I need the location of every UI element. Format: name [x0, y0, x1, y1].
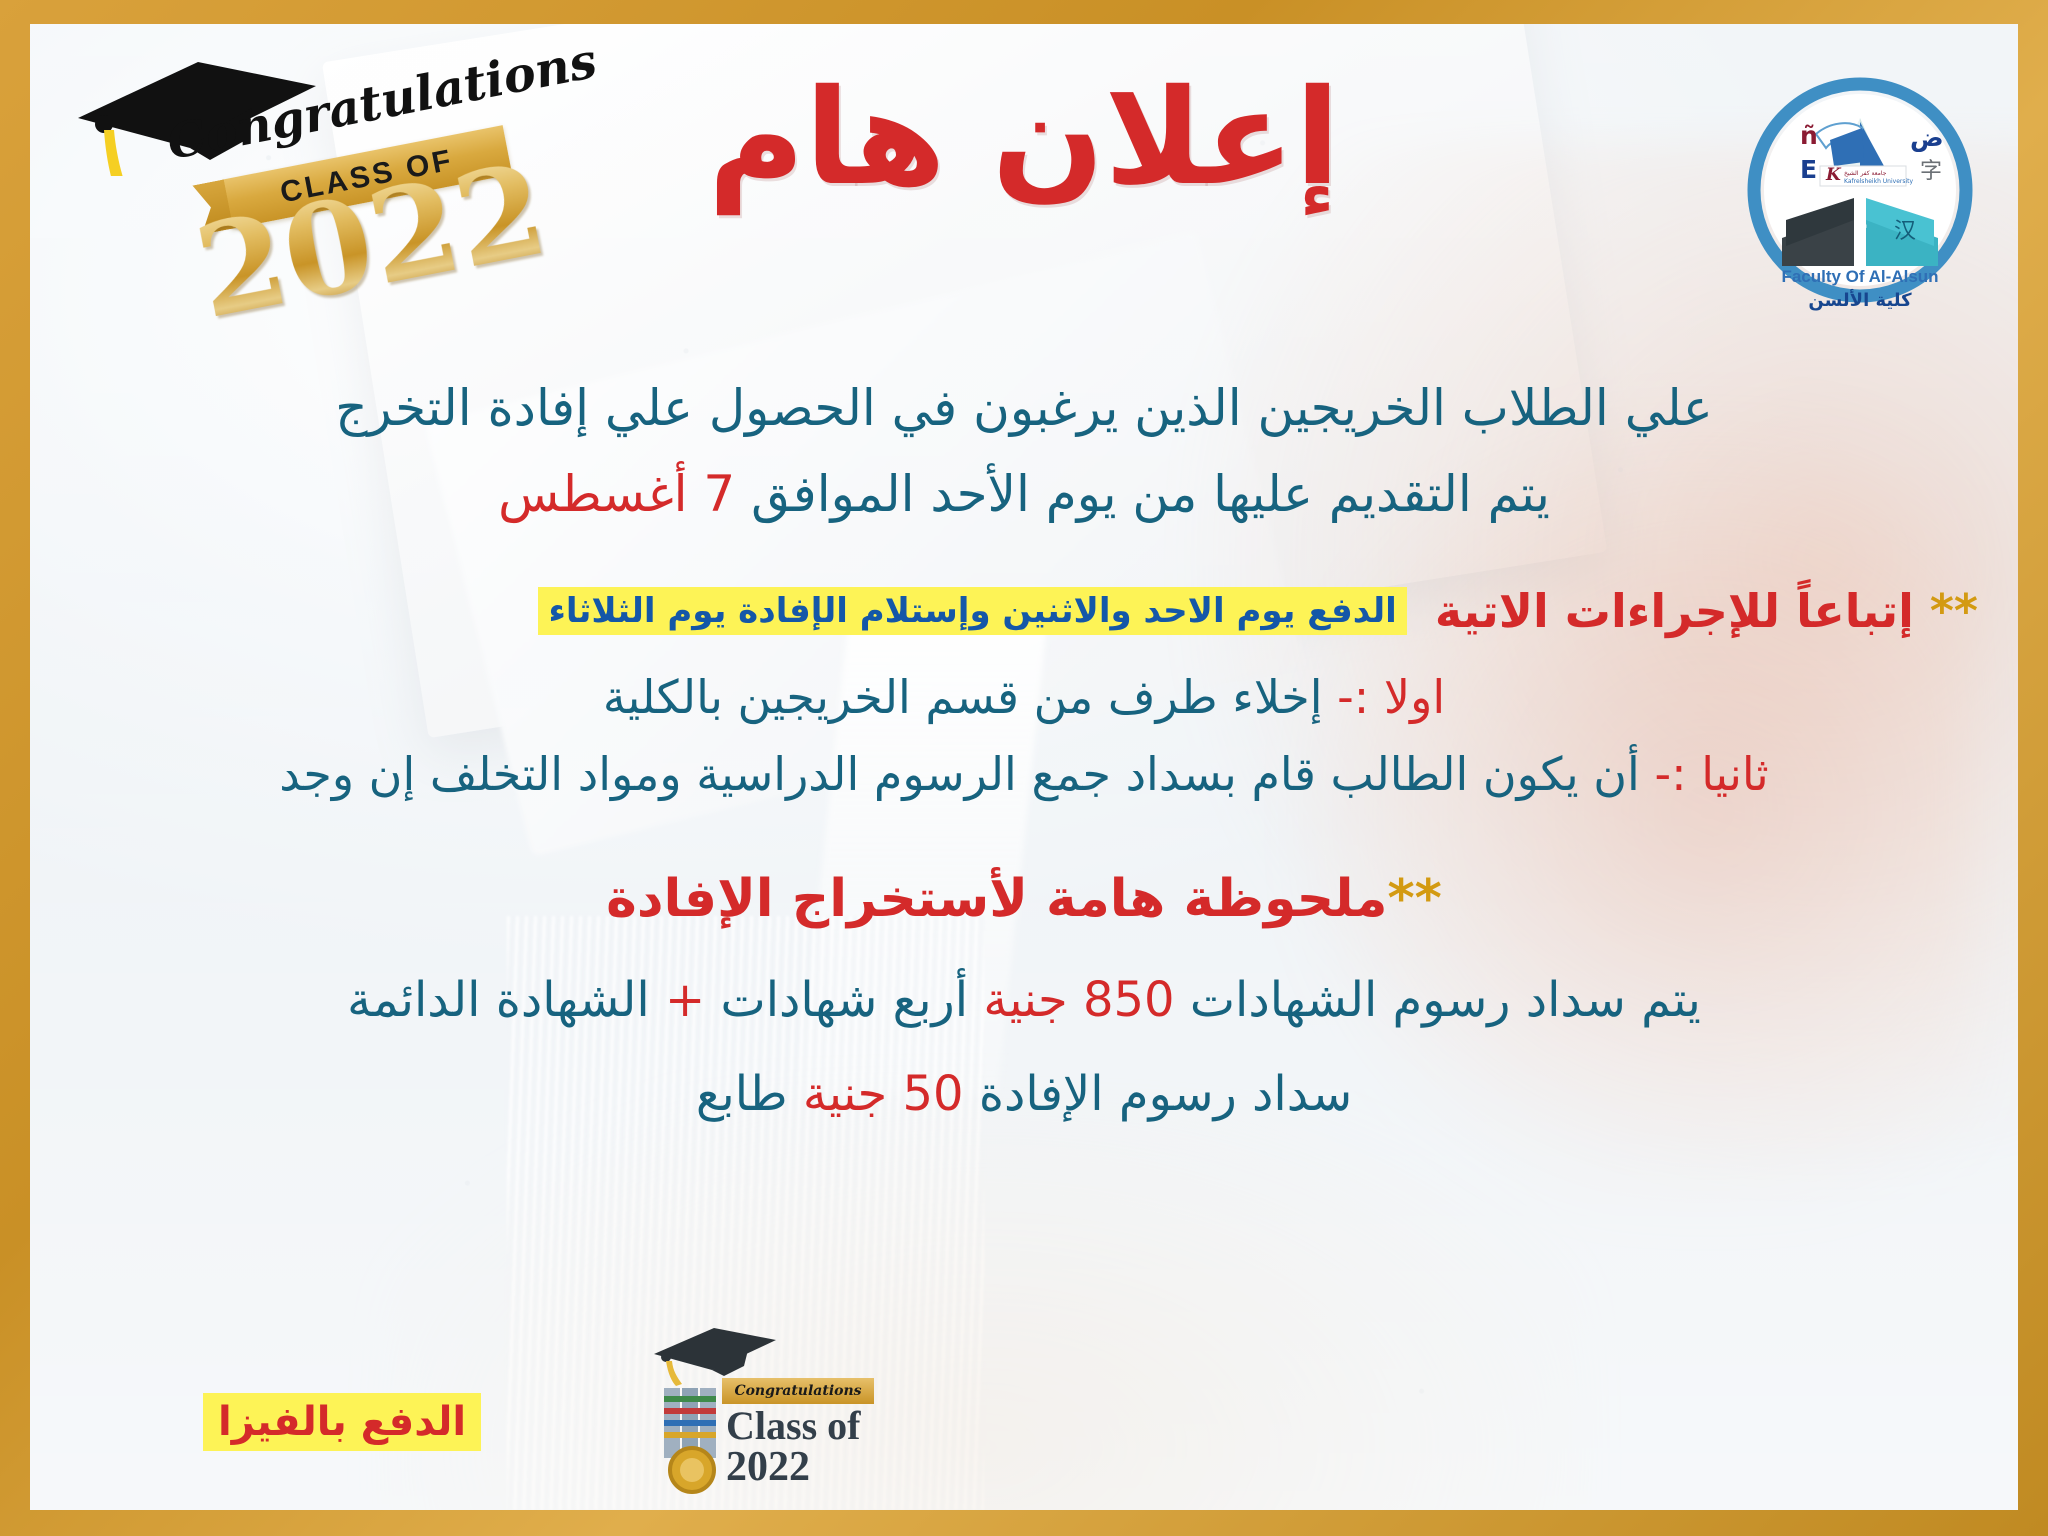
- note-asterisks-marker: **: [1387, 869, 1441, 929]
- fee-line-certificates: يتم سداد رسوم الشهادات 850 جنية أربع شها…: [70, 964, 1978, 1036]
- fee-line-1-plus: +: [665, 972, 705, 1028]
- page-title: إعلان هام: [30, 72, 2018, 204]
- important-note-text: ملحوظة هامة لأستخراج الإفادة: [606, 869, 1387, 929]
- step-one-label: اولا :-: [1337, 670, 1445, 724]
- svg-text:جامعة كفر الشيخ: جامعة كفر الشيخ: [1844, 170, 1887, 177]
- procedures-heading-text: إتباعاً للإجراءات الاتية: [1435, 584, 1914, 638]
- svg-text:汉: 汉: [1894, 219, 1916, 244]
- poster-frame: Congratulations CLASS OF 2022 إعلان هام: [0, 0, 2048, 1536]
- asterisks-marker: **: [1930, 584, 1978, 638]
- poster-content: Congratulations CLASS OF 2022 إعلان هام: [30, 24, 2018, 1510]
- step-two-text: أن يكون الطالب قام بسداد جمع الرسوم الدر…: [279, 747, 1640, 801]
- body-line-1: علي الطلاب الخريجين الذين يرغبون في الحص…: [70, 376, 1978, 440]
- statement-fee-amount: 50 جنية: [803, 1066, 964, 1122]
- payment-schedule-highlight: الدفع يوم الاحد والاثنين وإستلام الإفادة…: [540, 589, 1404, 633]
- visa-payment-badge: الدفع بالفيزا: [206, 1396, 478, 1448]
- fee-line-1-prefix: يتم سداد رسوم الشهادات: [1190, 972, 1701, 1028]
- step-two-label: ثانيا :-: [1654, 747, 1768, 801]
- step-two: ثانيا :- أن يكون الطالب قام بسداد جمع ال…: [70, 741, 1978, 808]
- fees-section: يتم سداد رسوم الشهادات 850 جنية أربع شها…: [70, 964, 1978, 1152]
- fee-line-statement: سداد رسوم الإفادة 50 جنية طابع: [70, 1058, 1978, 1130]
- fee-line-1-mid: أربع شهادات: [721, 972, 969, 1028]
- procedures-heading: ** إتباعاً للإجراءات الاتية: [1435, 584, 1978, 638]
- poster-canvas: Congratulations CLASS OF 2022 إعلان هام: [30, 24, 2018, 1510]
- step-one: اولا :- إخلاء طرف من قسم الخريجين بالكلي…: [70, 664, 1978, 731]
- announcement-body: علي الطلاب الخريجين الذين يرغبون في الحص…: [70, 376, 1978, 542]
- class-of-badge: Congratulations Class of 2022: [630, 1320, 890, 1500]
- svg-text:ض: ض: [1910, 123, 1944, 152]
- faculty-logo: ñ E ض 字 F 汉 جامعة كفر الشيخ Kafrelsheikh…: [1734, 70, 1986, 322]
- application-date: 7 أغسطس: [498, 465, 735, 523]
- procedures-heading-row: ** إتباعاً للإجراءات الاتية الدفع يوم ال…: [70, 584, 1978, 638]
- svg-text:F: F: [1852, 220, 1868, 248]
- graduation-cap-icon-small: [650, 1324, 780, 1386]
- important-note: **ملحوظة هامة لأستخراج الإفادة: [70, 869, 1978, 929]
- class-of-badge-ribbon: Congratulations: [722, 1378, 874, 1404]
- step-one-text: إخلاء طرف من قسم الخريجين بالكلية: [603, 670, 1323, 724]
- fee-line-2-prefix: سداد رسوم الإفادة: [979, 1066, 1352, 1122]
- svg-text:字: 字: [1920, 159, 1942, 184]
- svg-text:K: K: [1825, 165, 1842, 185]
- body-line-2: يتم التقديم عليها من يوم الأحد الموافق 7…: [70, 462, 1978, 526]
- svg-text:ñ: ñ: [1800, 121, 1818, 150]
- class-of-badge-year: 2022: [726, 1446, 810, 1488]
- certificates-fee-amount: 850 جنية: [983, 972, 1174, 1028]
- fee-line-2-suffix: طابع: [696, 1066, 788, 1122]
- class-of-badge-ribbon-label: Congratulations: [722, 1378, 874, 1404]
- svg-text:Faculty Of Al-Alsun: Faculty Of Al-Alsun: [1781, 267, 1938, 286]
- procedures-steps: اولا :- إخلاء طرف من قسم الخريجين بالكلي…: [70, 664, 1978, 817]
- body-line-2-text: يتم التقديم عليها من يوم الأحد الموافق: [751, 465, 1550, 523]
- svg-text:E: E: [1800, 155, 1817, 184]
- fee-line-1-suffix: الشهادة الدائمة: [347, 972, 650, 1028]
- class-of-badge-word: Class of: [726, 1406, 860, 1447]
- svg-text:Kafrelsheikh University: Kafrelsheikh University: [1844, 178, 1913, 185]
- svg-text:كلية الألسن: كلية الألسن: [1808, 289, 1912, 311]
